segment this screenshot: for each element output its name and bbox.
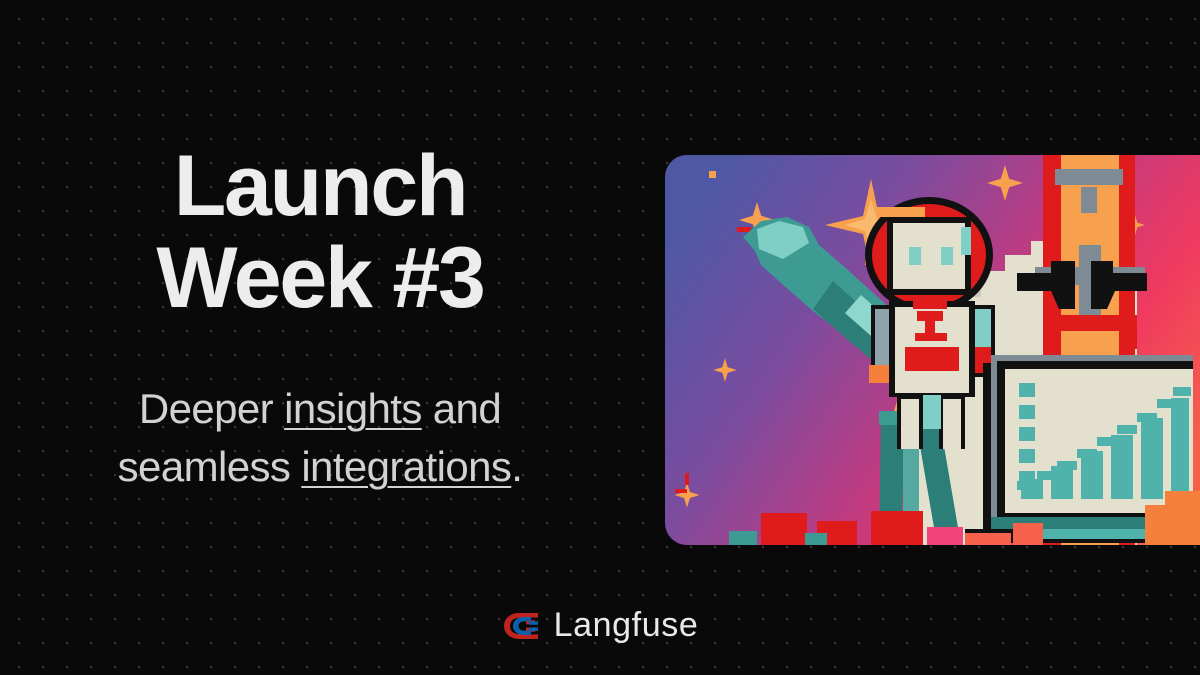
brand-lockup: Langfuse (0, 606, 1200, 645)
hero-copy: Launch Week #3 Deeper insights and seaml… (0, 140, 640, 496)
subtitle-text-c: seamless (118, 443, 302, 490)
hero-subtitle: Deeper insights and seamless integration… (0, 380, 640, 496)
page-title: Launch Week #3 (0, 140, 640, 324)
langfuse-logo-icon (502, 611, 540, 641)
subtitle-highlight-integrations: integrations (301, 443, 511, 490)
launch-week-banner: Launch Week #3 Deeper insights and seaml… (0, 0, 1200, 675)
subtitle-highlight-insights: insights (284, 385, 422, 432)
brand-wordmark: Langfuse (554, 606, 699, 645)
subtitle-text-d: . (511, 443, 522, 490)
subtitle-text-b: and (422, 385, 501, 432)
subtitle-text-a: Deeper (139, 385, 284, 432)
launch-artwork (665, 155, 1200, 545)
